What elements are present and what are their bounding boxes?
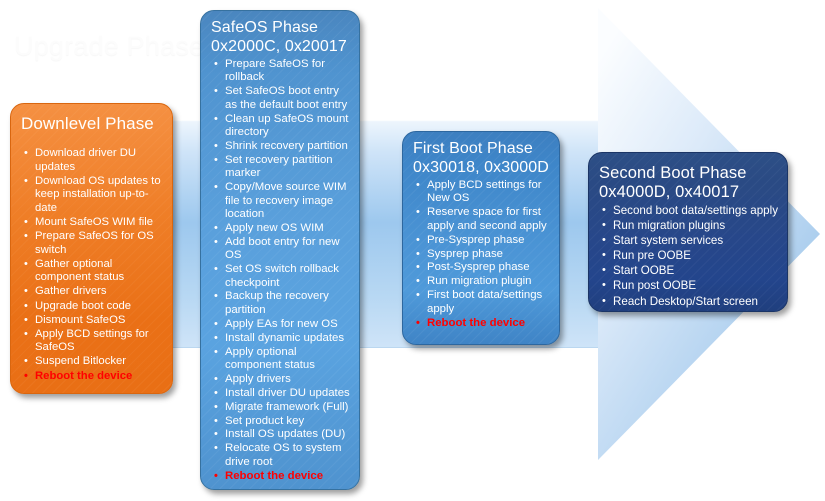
list-item: Set product key [211,415,350,428]
list-item: Start system services [599,234,778,249]
list-item: Apply BCD settings for New OS [413,179,550,206]
list-item: Run post OOBE [599,279,778,294]
list-item: Install OS updates (DU) [211,428,350,441]
phase-card-inner: Downlevel Phase Download driver DU updat… [11,104,172,393]
diagram-watermark-title: Upgrade Phases [14,31,218,62]
phase-title-downlevel: Downlevel Phase [21,114,163,133]
list-item-reboot: Reboot the device [211,470,350,483]
list-item: Suspend Bitlocker [21,355,163,369]
list-item: Post-Sysprep phase [413,261,550,274]
list-item: Relocate OS to system drive root [211,442,350,469]
list-item: Clean up SafeOS mount directory [211,113,350,140]
list-item: Run migration plugins [599,219,778,234]
phase-items-second-boot: Second boot data/settings apply Run migr… [599,204,778,309]
list-item: Gather optional component status [21,258,163,285]
list-item: Run migration plugin [413,275,550,288]
list-item: Apply BCD settings for SafeOS [21,328,163,355]
phase-code-safeos: 0x2000C, 0x20017 [211,37,350,56]
list-item-reboot: Reboot the device [21,370,163,384]
list-item: Sysprep phase [413,248,550,261]
list-item: Upgrade boot code [21,300,163,314]
phase-card-second-boot[interactable]: Second Boot Phase 0x4000D, 0x40017 Secon… [588,152,788,312]
phase-card-inner: First Boot Phase 0x30018, 0x3000D Apply … [403,132,559,344]
list-item: Run pre OOBE [599,249,778,264]
list-item: Install dynamic updates [211,332,350,345]
list-item: Add boot entry for new OS [211,236,350,263]
list-item: Reach Desktop/Start screen [599,295,778,310]
list-item: Download OS updates to keep installation… [21,175,163,216]
list-item: Prepare SafeOS for rollback [211,58,350,85]
list-item: Download driver DU updates [21,147,163,174]
phase-code-first-boot: 0x30018, 0x3000D [413,158,550,177]
phase-items-downlevel: Download driver DU updates Download OS u… [21,147,163,383]
list-item: Dismount SafeOS [21,314,163,328]
phase-card-inner: Second Boot Phase 0x4000D, 0x40017 Secon… [589,153,787,311]
list-item: Backup the recovery partition [211,290,350,317]
phase-items-first-boot: Apply BCD settings for New OS Reserve sp… [413,179,550,330]
list-item: Start OOBE [599,264,778,279]
phase-card-inner: SafeOS Phase 0x2000C, 0x20017 Prepare Sa… [201,11,359,489]
list-item: First boot data/settings apply [413,289,550,316]
list-item: Gather drivers [21,285,163,299]
list-item: Install driver DU updates [211,387,350,400]
list-item: Apply drivers [211,373,350,386]
list-item: Set recovery partition marker [211,154,350,181]
list-item-reboot: Reboot the device [413,317,550,330]
phase-card-safeos[interactable]: SafeOS Phase 0x2000C, 0x20017 Prepare Sa… [200,10,360,490]
list-item: Copy/Move source WIM file to recovery im… [211,181,350,221]
list-item: Mount SafeOS WIM file [21,216,163,230]
list-item: Pre-Sysprep phase [413,234,550,247]
list-item: Second boot data/settings apply [599,204,778,219]
list-item: Reserve space for first apply and second… [413,206,550,233]
diagram-canvas: Upgrade Phases Downlevel Phase Download … [0,0,825,501]
list-item: Set SafeOS boot entry as the default boo… [211,85,350,112]
list-item: Apply optional component status [211,346,350,373]
phase-title-first-boot: First Boot Phase [413,139,550,158]
phase-card-first-boot[interactable]: First Boot Phase 0x30018, 0x3000D Apply … [402,131,560,345]
list-item: Migrate framework (Full) [211,401,350,414]
phase-code-second-boot: 0x4000D, 0x40017 [599,183,778,202]
phase-title-safeos: SafeOS Phase [211,18,350,37]
phase-items-safeos: Prepare SafeOS for rollback Set SafeOS b… [211,58,350,483]
list-item: Shrink recovery partition [211,140,350,153]
phase-title-second-boot: Second Boot Phase [599,164,778,183]
phase-card-downlevel[interactable]: Downlevel Phase Download driver DU updat… [10,103,173,394]
list-item: Apply EAs for new OS [211,318,350,331]
list-item: Prepare SafeOS for OS switch [21,230,163,257]
list-item: Set OS switch rollback checkpoint [211,263,350,290]
list-item: Apply new OS WIM [211,222,350,235]
